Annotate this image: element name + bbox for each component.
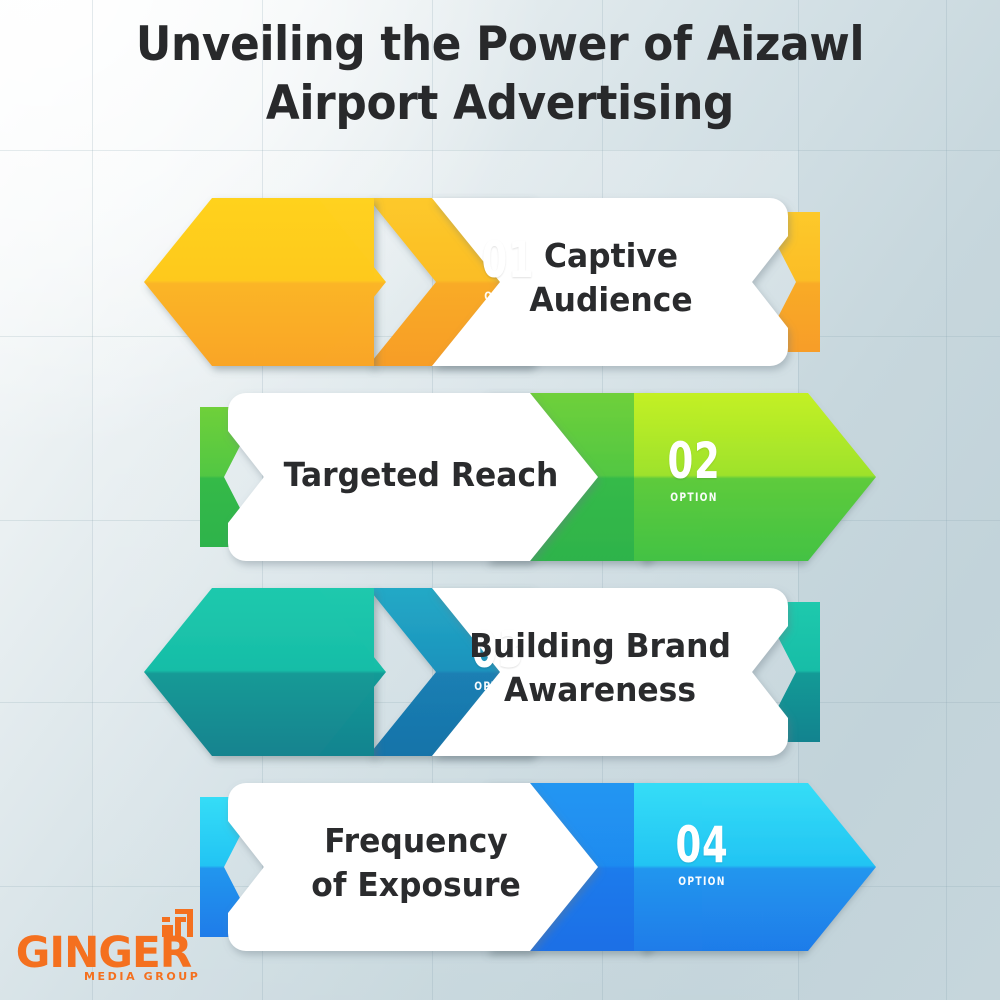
step-item-4[interactable]: 04 OPTION Frequency of Exposure <box>200 781 820 953</box>
step-item-3[interactable]: 03 OPTION Building Brand Awareness <box>200 586 820 758</box>
step-4-badge-tail <box>634 783 702 951</box>
step-2-badge-tail <box>634 393 702 561</box>
step-1-label: Captive Audience <box>454 234 768 322</box>
step-3-label: Building Brand Awareness <box>433 624 767 712</box>
step-2-label: Targeted Reach <box>257 453 586 497</box>
brand-logo[interactable]: GINGER MEDIA GROUP <box>14 908 214 982</box>
nested-corner-icon <box>162 908 196 938</box>
step-item-1[interactable]: 01 OPTION Captive Audience <box>200 196 820 368</box>
step-item-2[interactable]: 02 OPTION Targeted Reach <box>200 391 820 563</box>
page-title: Unveiling the Power of Aizawl Airport Ad… <box>35 16 965 134</box>
step-4-label: Frequency of Exposure <box>249 819 583 907</box>
logo-tagline: MEDIA GROUP <box>84 970 200 983</box>
infographic-canvas: Unveiling the Power of Aizawl Airport Ad… <box>0 0 1000 1000</box>
